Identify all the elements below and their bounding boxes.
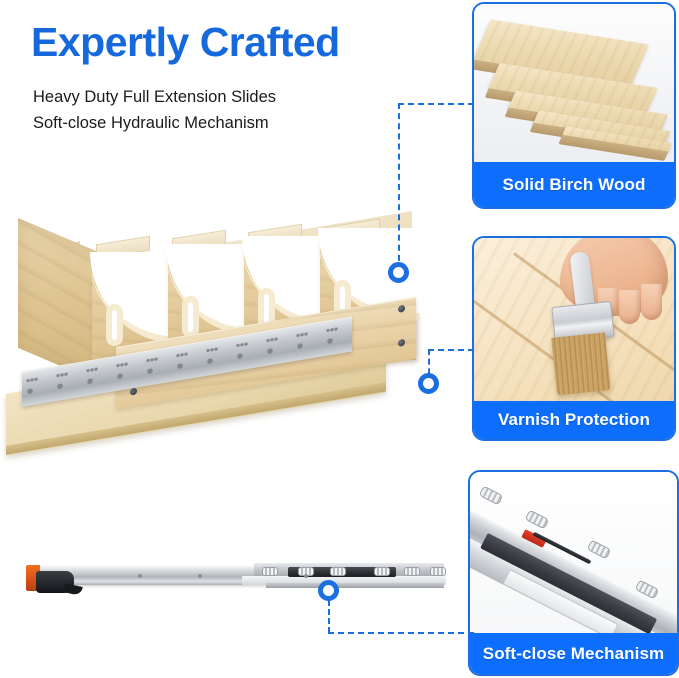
connector-line-birch-horizontal <box>398 103 474 105</box>
connector-line-softclose-horizontal <box>328 632 474 634</box>
ball-bearing-cage <box>404 567 420 576</box>
connector-line-birch-vertical <box>398 103 400 271</box>
slide-mounting-hole <box>198 574 202 578</box>
callout-marker-soft-close[interactable] <box>318 580 339 601</box>
panel-caption-birch-wood: Solid Birch Wood <box>474 162 674 207</box>
ball-bearing-cage <box>430 567 446 576</box>
slide-lever-tail <box>63 583 82 596</box>
drawer-slide-image <box>26 553 446 613</box>
slide-mechanism-closeup <box>470 472 677 633</box>
callout-marker-birch-wood[interactable] <box>388 262 409 283</box>
panel-caption-soft-close-mechanism: Soft-close Mechanism <box>470 633 677 674</box>
ball-bearing-cage <box>587 540 612 560</box>
birch-board-stack <box>474 4 674 162</box>
varnish-illustration <box>474 238 674 401</box>
feature-panel-solid-birch-wood[interactable]: Solid Birch Wood <box>472 2 676 209</box>
wood-surface <box>474 238 674 401</box>
slide-lower-lip <box>266 583 444 588</box>
slide-mounting-hole <box>138 574 142 578</box>
ball-bearing-cage <box>374 567 390 576</box>
panel-caption-varnish-protection: Varnish Protection <box>474 401 674 439</box>
ball-bearing-cage <box>525 510 550 530</box>
callout-marker-varnish[interactable] <box>418 373 439 394</box>
finger <box>641 284 662 320</box>
birch-boards-illustration <box>474 4 674 162</box>
ball-bearing-cage <box>479 486 504 506</box>
subtitle-line-1: Heavy Duty Full Extension Slides <box>33 89 276 106</box>
connector-line-varnish-horizontal <box>428 349 474 351</box>
connector-line-softclose-vertical <box>328 600 330 633</box>
soft-close-illustration <box>470 472 677 633</box>
infographic-canvas: Expertly Crafted Heavy Duty Full Extensi… <box>0 0 679 678</box>
ball-bearing-cage <box>262 567 278 576</box>
hero-product-image <box>4 222 456 472</box>
feature-panel-soft-close-mechanism[interactable]: Soft-close Mechanism <box>468 470 679 676</box>
subtitle-line-2: Soft-close Hydraulic Mechanism <box>33 115 269 132</box>
page-title: Expertly Crafted <box>31 22 340 63</box>
finger <box>619 290 640 324</box>
ball-bearing-cage <box>330 567 346 576</box>
slide-mounting-hole <box>304 574 308 578</box>
brush-bristles <box>551 332 611 395</box>
feature-panel-varnish-protection[interactable]: Varnish Protection <box>472 236 676 441</box>
handle-cutout <box>182 296 199 338</box>
handle-cutout <box>106 304 123 346</box>
